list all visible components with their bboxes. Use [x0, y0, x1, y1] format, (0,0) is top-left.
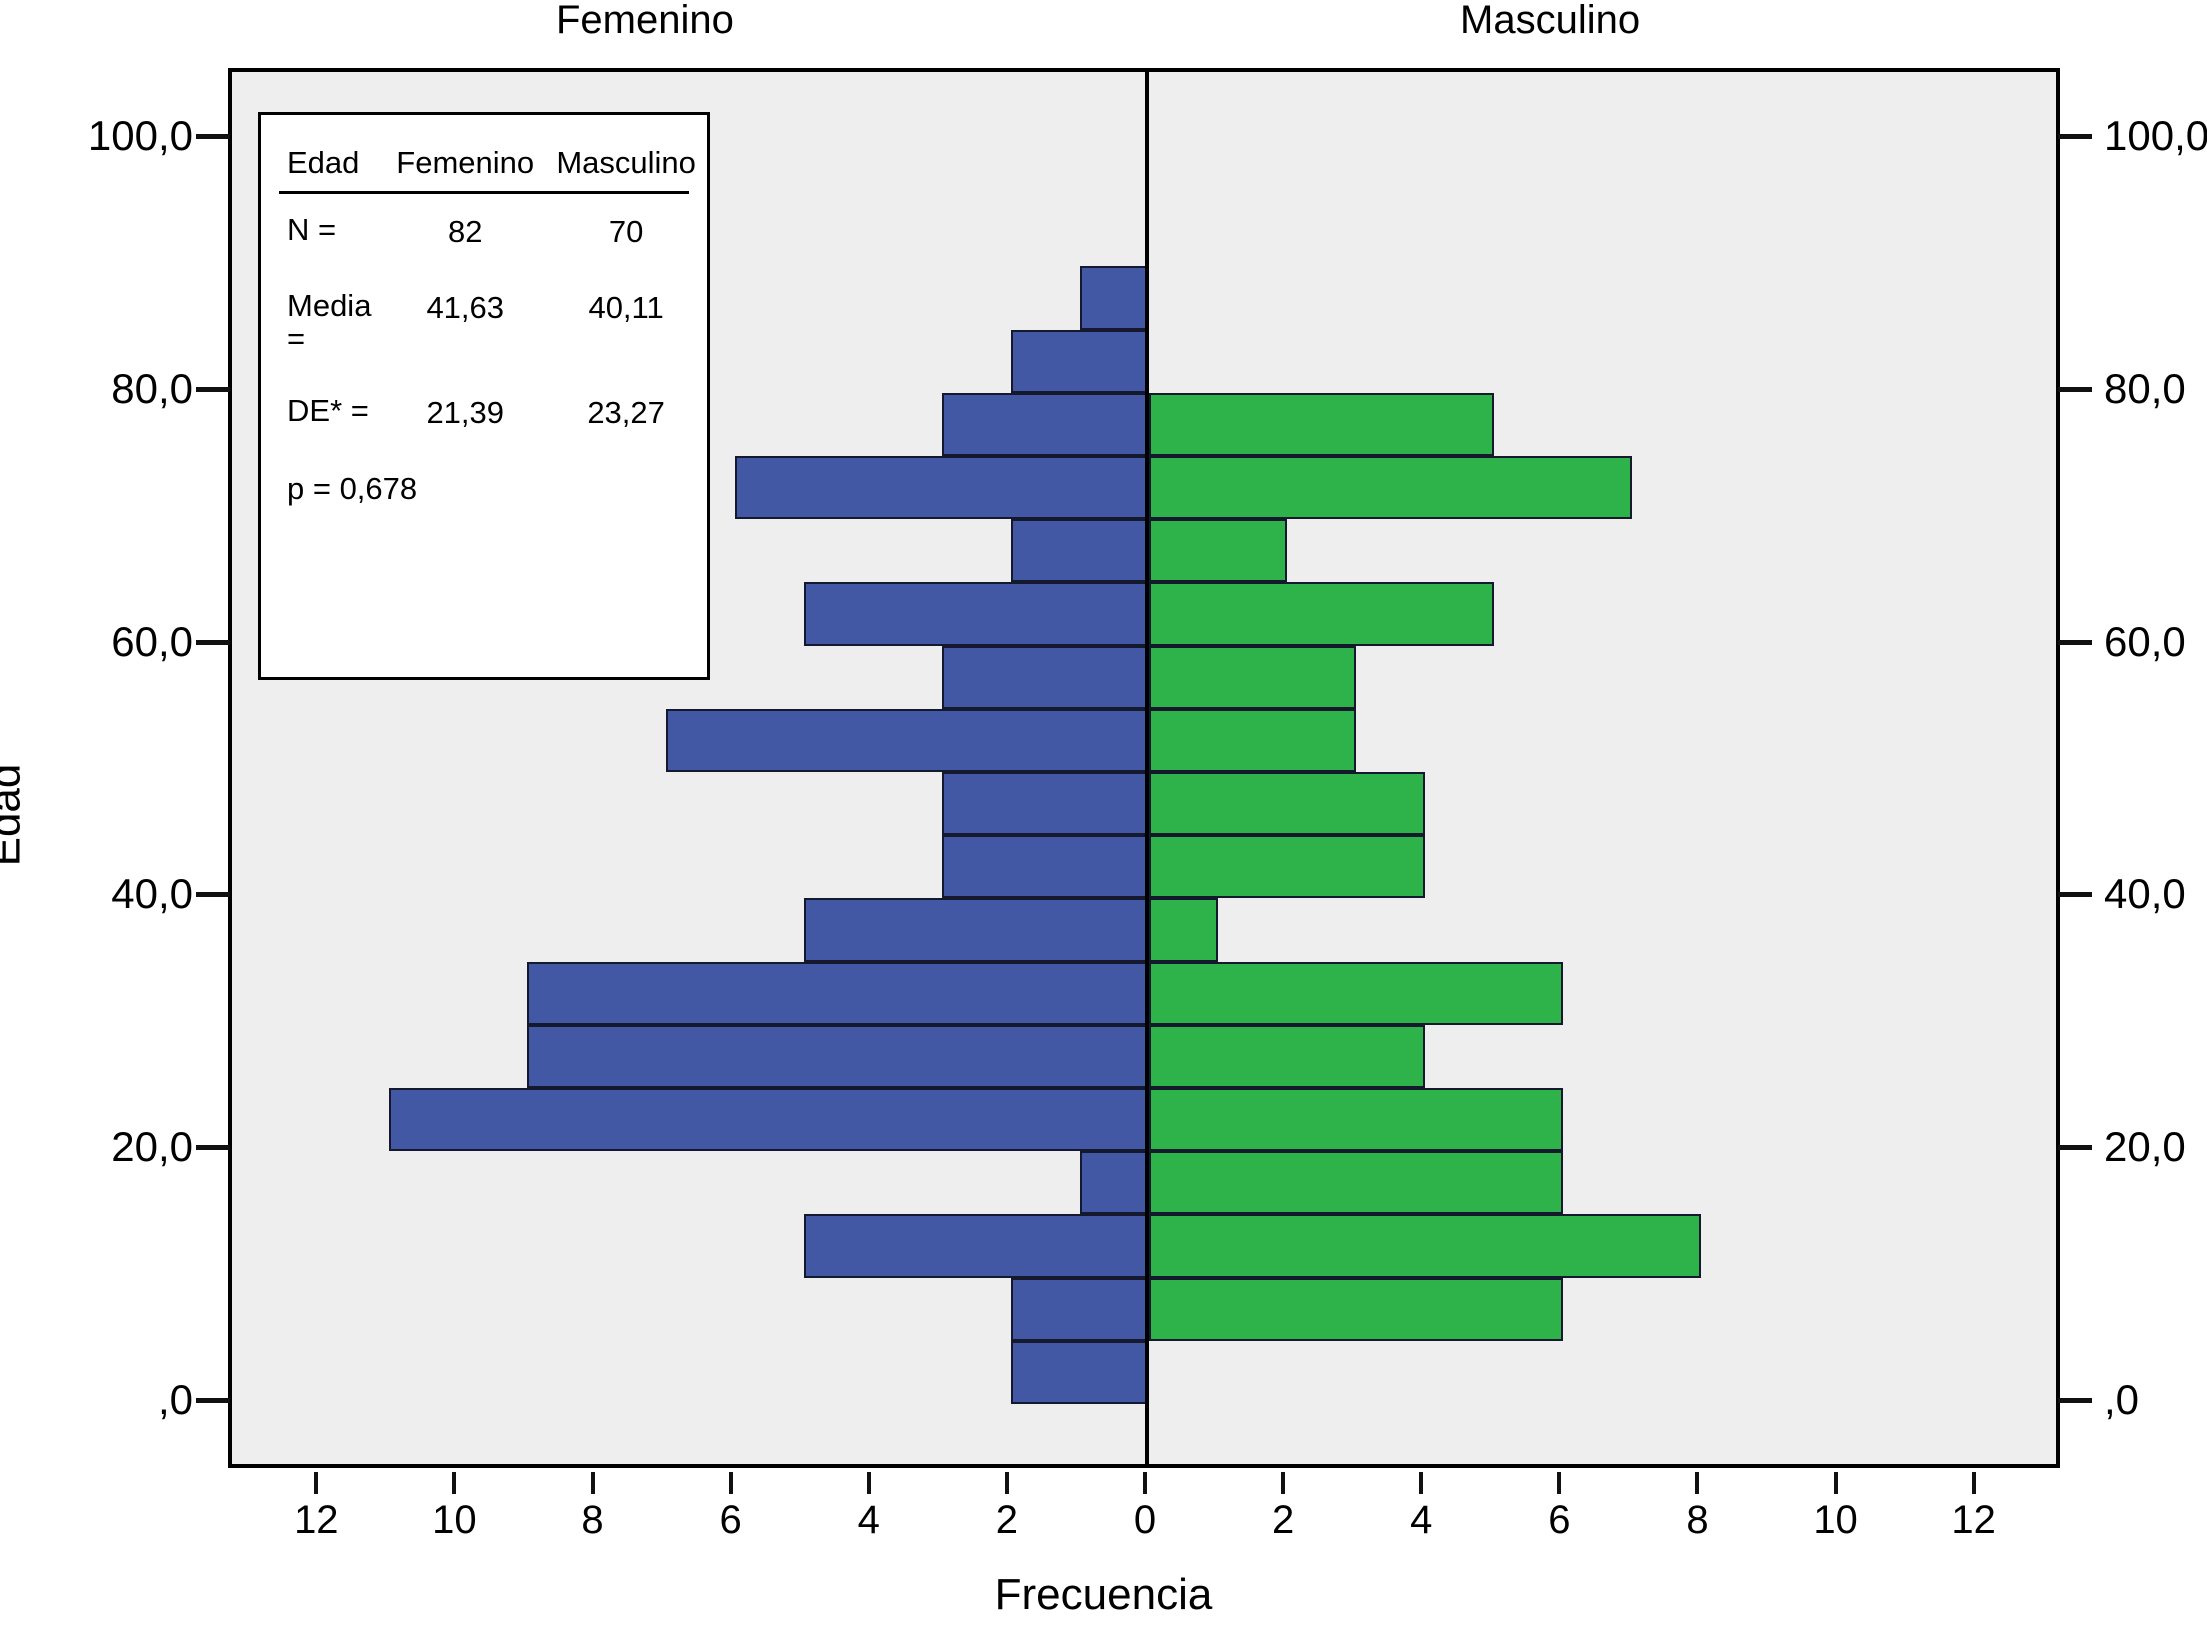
- bar-femenino-75-80: [942, 393, 1149, 456]
- y-tick-mark-right: [2058, 387, 2092, 392]
- y-tick-label-left: 100,0: [88, 112, 193, 160]
- table-row-pvalue: p = 0,678: [261, 451, 707, 527]
- bar-masculino-60-65: [1149, 582, 1494, 645]
- bar-femenino-40-45: [942, 835, 1149, 898]
- x-tick-label: 12: [1951, 1498, 1996, 1543]
- y-tick-label-left: 20,0: [111, 1123, 193, 1171]
- x-tick-mark: [591, 1472, 595, 1494]
- row-media-male: 40,11: [545, 270, 707, 375]
- y-tick-mark-right: [2058, 892, 2092, 897]
- x-tick-label: 0: [1134, 1498, 1156, 1543]
- bar-femenino-10-15: [804, 1214, 1149, 1277]
- y-tick-label-right: 100,0: [2104, 112, 2207, 160]
- x-tick-mark: [1972, 1472, 1976, 1494]
- x-tick-label: 10: [1813, 1498, 1858, 1543]
- y-axis-title: Edad: [0, 764, 30, 867]
- row-label-media: Media=: [261, 270, 385, 375]
- x-tick-mark: [729, 1472, 733, 1494]
- bar-femenino-50-55: [666, 709, 1149, 772]
- bar-masculino-65-70: [1149, 519, 1287, 582]
- y-tick-label-right: 20,0: [2104, 1123, 2186, 1171]
- y-tick-mark-left: [196, 1145, 230, 1150]
- header-edad: Edad: [261, 139, 385, 191]
- bar-femenino-85-90: [1080, 266, 1149, 329]
- y-tick-label-left: 60,0: [111, 618, 193, 666]
- row-de-female: 21,39: [385, 375, 545, 451]
- y-tick-label-right: 40,0: [2104, 870, 2186, 918]
- bar-femenino-15-20: [1080, 1151, 1149, 1214]
- table-row: DE* = 21,39 23,27: [261, 375, 707, 451]
- bar-femenino-35-40: [804, 898, 1149, 961]
- x-tick-mark: [1419, 1472, 1423, 1494]
- bar-femenino-65-70: [1011, 519, 1149, 582]
- y-tick-label-left: ,0: [158, 1376, 193, 1424]
- bar-femenino-45-50: [942, 772, 1149, 835]
- x-tick-mark: [314, 1472, 318, 1494]
- bar-masculino-15-20: [1149, 1151, 1563, 1214]
- x-tick-label: 2: [996, 1498, 1018, 1543]
- bar-masculino-5-10: [1149, 1278, 1563, 1341]
- y-tick-mark-right: [2058, 134, 2092, 139]
- x-tick-label: 4: [858, 1498, 880, 1543]
- x-tick-mark: [1695, 1472, 1699, 1494]
- x-tick-label: 8: [1686, 1498, 1708, 1543]
- x-tick-mark: [1005, 1472, 1009, 1494]
- bar-masculino-40-45: [1149, 835, 1425, 898]
- y-tick-mark-right: [2058, 1145, 2092, 1150]
- x-axis-title: Frecuencia: [0, 1570, 2207, 1620]
- bar-femenino-55-60: [942, 646, 1149, 709]
- x-tick-mark: [1557, 1472, 1561, 1494]
- bar-femenino-30-35: [527, 962, 1149, 1025]
- y-tick-label-right: ,0: [2104, 1376, 2139, 1424]
- y-tick-mark-left: [196, 1398, 230, 1403]
- statistics-legend-box: Edad Femenino Masculino N = 82 70 Media=…: [258, 112, 710, 680]
- table-row: Media= 41,63 40,11: [261, 270, 707, 375]
- bar-masculino-35-40: [1149, 898, 1218, 961]
- p-value: p = 0,678: [261, 451, 707, 527]
- x-tick-mark: [867, 1472, 871, 1494]
- x-tick-label: 6: [1548, 1498, 1570, 1543]
- bar-femenino-0-5: [1011, 1341, 1149, 1404]
- x-tick-label: 4: [1410, 1498, 1432, 1543]
- x-tick-label: 6: [720, 1498, 742, 1543]
- row-label-n: N =: [261, 194, 385, 270]
- y-tick-mark-right: [2058, 1398, 2092, 1403]
- panel-title-male: Masculino: [1460, 0, 1640, 43]
- header-masculino: Masculino: [545, 139, 707, 191]
- y-tick-label-left: 80,0: [111, 365, 193, 413]
- header-femenino: Femenino: [385, 139, 545, 191]
- x-tick-mark: [1281, 1472, 1285, 1494]
- bar-femenino-70-75: [735, 456, 1149, 519]
- bar-masculino-45-50: [1149, 772, 1425, 835]
- x-tick-label: 12: [294, 1498, 339, 1543]
- x-tick-mark: [452, 1472, 456, 1494]
- bar-femenino-25-30: [527, 1025, 1149, 1088]
- bar-masculino-10-15: [1149, 1214, 1701, 1277]
- x-tick-mark: [1834, 1472, 1838, 1494]
- y-tick-mark-left: [196, 892, 230, 897]
- panel-title-female: Femenino: [556, 0, 734, 43]
- bar-masculino-20-25: [1149, 1088, 1563, 1151]
- table-row: N = 82 70: [261, 194, 707, 270]
- row-n-male: 70: [545, 194, 707, 270]
- bar-femenino-5-10: [1011, 1278, 1149, 1341]
- row-media-female: 41,63: [385, 270, 545, 375]
- bar-femenino-80-85: [1011, 330, 1149, 393]
- statistics-table: Edad Femenino Masculino N = 82 70 Media=…: [261, 139, 707, 527]
- bar-femenino-20-25: [389, 1088, 1149, 1151]
- y-tick-mark-right: [2058, 640, 2092, 645]
- y-tick-label-right: 80,0: [2104, 365, 2186, 413]
- row-de-male: 23,27: [545, 375, 707, 451]
- bar-masculino-50-55: [1149, 709, 1356, 772]
- y-tick-label-left: 40,0: [111, 870, 193, 918]
- y-tick-mark-left: [196, 387, 230, 392]
- y-tick-mark-left: [196, 134, 230, 139]
- bar-masculino-30-35: [1149, 962, 1563, 1025]
- bar-masculino-55-60: [1149, 646, 1356, 709]
- x-tick-label: 2: [1272, 1498, 1294, 1543]
- y-tick-label-right: 60,0: [2104, 618, 2186, 666]
- x-tick-mark: [1143, 1472, 1147, 1494]
- bar-masculino-25-30: [1149, 1025, 1425, 1088]
- bar-femenino-60-65: [804, 582, 1149, 645]
- bar-masculino-70-75: [1149, 456, 1632, 519]
- row-label-de: DE* =: [261, 375, 385, 451]
- zero-axis-line: [1145, 72, 1149, 1464]
- row-n-female: 82: [385, 194, 545, 270]
- bar-masculino-75-80: [1149, 393, 1494, 456]
- y-tick-mark-left: [196, 640, 230, 645]
- x-tick-label: 10: [432, 1498, 477, 1543]
- table-header-row: Edad Femenino Masculino: [261, 139, 707, 191]
- x-tick-label: 8: [581, 1498, 603, 1543]
